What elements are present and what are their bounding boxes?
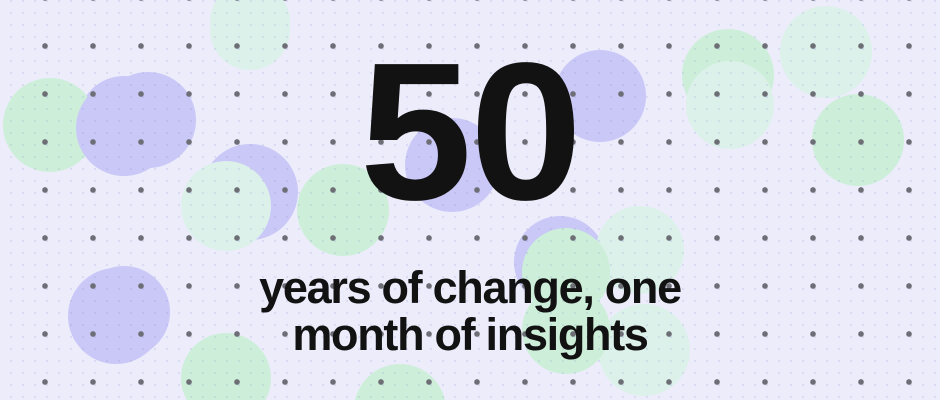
subtitle-line-1: years of change, one — [0, 264, 940, 311]
headline-number: 50 — [0, 34, 940, 230]
subtitle-line-2: month of insights — [0, 311, 940, 358]
banner-text-layer: 50 years of change, one month of insight… — [0, 0, 940, 400]
anniversary-banner: 50 years of change, one month of insight… — [0, 0, 940, 400]
headline-subtitle: years of change, one month of insights — [0, 264, 940, 358]
